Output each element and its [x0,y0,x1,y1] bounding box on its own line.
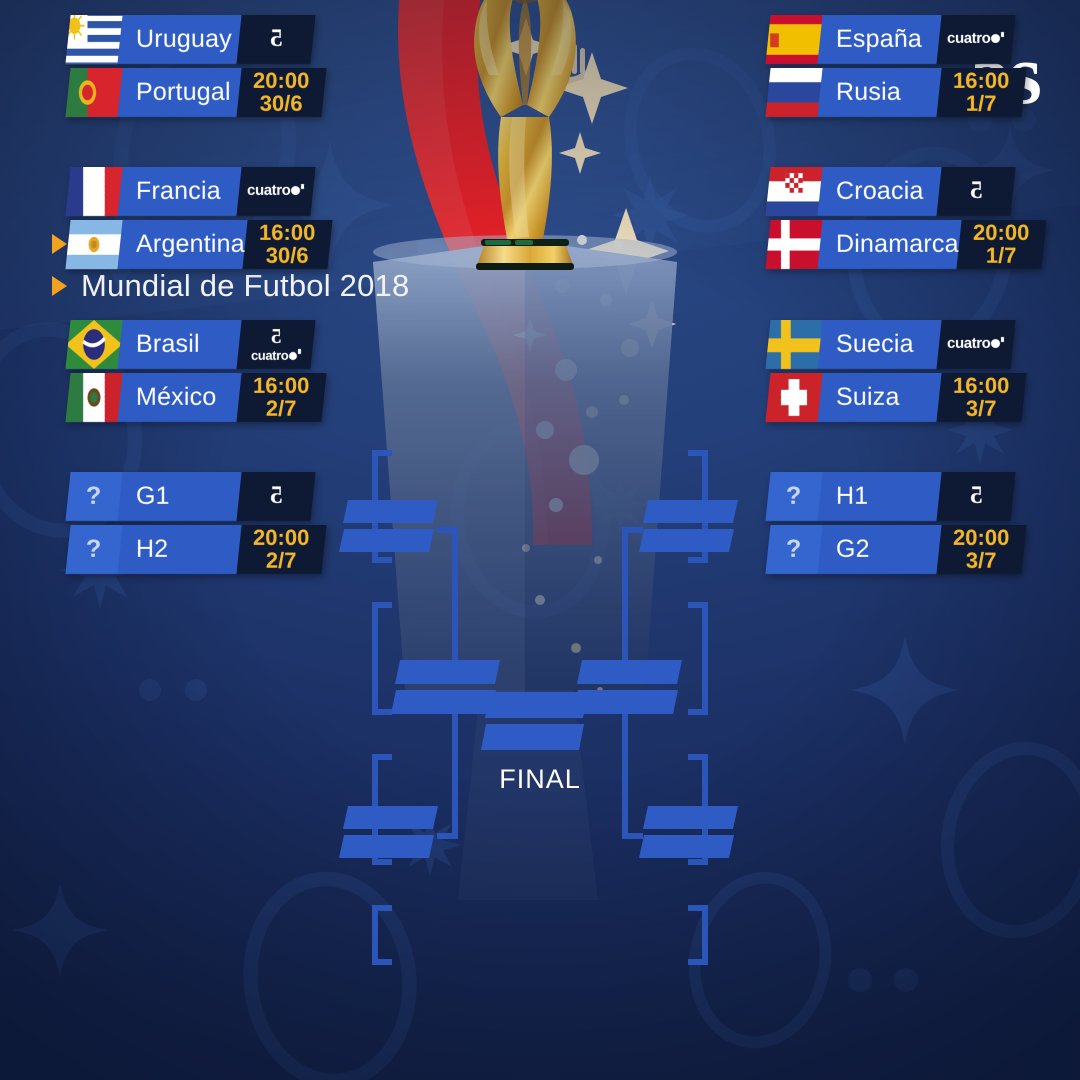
telecinco-logo-icon: 5 [270,26,283,52]
team-name: G1 [120,482,170,511]
flag-portugal-icon [65,68,122,117]
kickoff-cell: 16:00 30/6 [242,220,332,269]
telecinco-logo-icon: 5 [271,325,282,347]
channel-cell: cuatro [936,15,1015,64]
kickoff-date: 2/7 [253,550,309,573]
match-row-team-top[interactable]: Suecia cuatro [765,320,1015,369]
team-name-cell: H1 [817,472,941,521]
unknown-team-placeholder-icon: ? [765,472,822,521]
kickoff-date: 1/7 [973,245,1029,268]
team-name: Croacia [820,177,924,206]
team-name: Suiza [820,383,900,412]
match-card[interactable]: España cuatro Rusia [768,15,1036,120]
flag-argentina-icon [65,220,122,269]
cuatro-logo-icon: cuatro [247,182,304,199]
kickoff-time: 16:00 [953,374,1009,397]
team-name-cell: España [817,15,941,64]
match-row-team-bottom[interactable]: ? H2 20:00 2/7 [65,525,326,574]
team-name-cell: Brasil [117,320,241,369]
team-name: Suecia [820,330,914,359]
flag-croacia-icon [765,167,822,216]
match-row-team-top[interactable]: ? G1 5 [65,472,315,521]
cuatro-logo-icon: cuatro [947,30,1004,47]
kickoff-cell: 16:00 3/7 [936,373,1026,422]
tournament-name: Mundial de Futbol 2018 [81,268,409,304]
team-name: Brasil [120,330,200,359]
telecinco-logo-icon: 5 [970,178,983,204]
channel-cell: 5 [236,15,315,64]
team-name-cell: Uruguay [117,15,241,64]
team-name-cell: Francia [117,167,241,216]
unknown-team-placeholder-icon: ? [65,472,122,521]
match-row-team-top[interactable]: Uruguay 5 [65,15,315,64]
match-row-team-top[interactable]: España cuatro [765,15,1015,64]
match-card[interactable]: Suecia cuatro Suiza [768,320,1036,425]
channel-cell: cuatro [936,320,1015,369]
team-name: México [120,383,216,412]
cuatro-logo-icon: cuatro [251,348,301,363]
team-name-cell: Dinamarca [817,220,961,269]
match-row-team-bottom[interactable]: ? G2 20:00 3/7 [765,525,1026,574]
team-name-cell: Portugal [117,68,241,117]
team-name: H1 [820,482,868,511]
match-row-team-top[interactable]: ? H1 5 [765,472,1015,521]
flag-brasil-icon [65,320,122,369]
team-name-cell: H2 [117,525,241,574]
team-name-cell: Croacia [817,167,941,216]
channel-cell: 5 [936,167,1015,216]
telecinco-logo-icon: 5 [270,483,283,509]
team-name-cell: G2 [817,525,941,574]
kickoff-date: 2/7 [253,398,309,421]
match-row-team-bottom[interactable]: Portugal 20:00 30/6 [65,68,326,117]
unknown-team-placeholder-icon: ? [765,525,822,574]
team-name: Uruguay [120,25,232,54]
channel-cell: 5 cuatro [236,320,315,369]
flag-rusia-icon [765,68,822,117]
channel-cell: 5 [236,472,315,521]
kickoff-time: 20:00 [953,526,1009,549]
team-name: Portugal [120,78,231,107]
match-card[interactable]: Croacia 5 Dinamarca [768,167,1036,272]
kickoff-cell: 20:00 3/7 [936,525,1026,574]
match-row-team-bottom[interactable]: México 16:00 2/7 [65,373,326,422]
kickoff-time: 16:00 [953,69,1009,92]
team-name-cell: México [117,373,241,422]
triangle-bullet-icon [52,276,67,296]
team-name-cell: G1 [117,472,241,521]
kickoff-time: 16:00 [259,221,315,244]
team-name: España [820,25,922,54]
infographic-canvas: FINAL as Octavos Mundial de Futbol 2018 [0,0,1080,1080]
kickoff-date: 30/6 [253,93,309,116]
match-card[interactable]: Uruguay 5 [68,15,336,120]
kickoff-time: 16:00 [253,374,309,397]
flag-uruguay-icon [65,15,122,64]
team-name-cell: Suecia [817,320,941,369]
channel-cell: cuatro [236,167,315,216]
team-name: Francia [120,177,221,206]
team-name-cell: Suiza [817,373,941,422]
flag-dinamarca-icon [765,220,822,269]
team-name: Dinamarca [820,230,959,259]
match-row-team-top[interactable]: Croacia 5 [765,167,1015,216]
kickoff-date: 30/6 [259,245,315,268]
flag-mexico-icon [65,373,122,422]
match-row-team-bottom[interactable]: Rusia 16:00 1/7 [765,68,1026,117]
kickoff-date: 3/7 [953,550,1009,573]
triangle-bullet-icon [52,234,67,254]
team-name: H2 [120,535,168,564]
cuatro-logo-icon: cuatro [947,335,1004,352]
match-card[interactable]: ? G1 5 ? H2 20:00 2/7 [68,472,336,577]
team-name: Rusia [820,78,901,107]
kickoff-date: 3/7 [953,398,1009,421]
kickoff-cell: 16:00 1/7 [936,68,1026,117]
kickoff-time: 20:00 [253,69,309,92]
flag-francia-icon [65,167,122,216]
flag-suecia-icon [765,320,822,369]
match-row-team-bottom[interactable]: Suiza 16:00 3/7 [765,373,1026,422]
kickoff-date: 1/7 [953,93,1009,116]
unknown-team-placeholder-icon: ? [65,525,122,574]
match-card[interactable]: Francia cuatro [68,167,336,272]
match-row-team-bottom[interactable]: Dinamarca 20:00 1/7 [765,220,1026,269]
heading-row-tournament: Mundial de Futbol 2018 [52,268,409,304]
match-card[interactable]: ? H1 5 ? G2 20:00 3/7 [768,472,1036,577]
flag-suiza-icon [765,373,822,422]
match-row-team-top[interactable]: Brasil 5 cuatro [65,320,315,369]
final-label: FINAL [0,764,1080,795]
kickoff-time: 20:00 [253,526,309,549]
team-name-cell: Rusia [817,68,941,117]
channel-cell: 5 [936,472,1015,521]
kickoff-cell: 20:00 1/7 [956,220,1046,269]
match-row-team-top[interactable]: Francia cuatro [65,167,315,216]
match-card[interactable]: Brasil 5 cuatro [68,320,336,425]
telecinco-logo-icon: 5 [970,483,983,509]
kickoff-cell: 20:00 2/7 [236,525,326,574]
kickoff-cell: 16:00 2/7 [236,373,326,422]
match-row-team-bottom[interactable]: Argentina 16:00 30/6 [65,220,326,269]
kickoff-time: 20:00 [973,221,1029,244]
team-name: G2 [820,535,870,564]
team-name-cell: Argentina [117,220,247,269]
team-name: Argentina [120,230,245,259]
kickoff-cell: 20:00 30/6 [236,68,326,117]
flag-espana-icon [765,15,822,64]
